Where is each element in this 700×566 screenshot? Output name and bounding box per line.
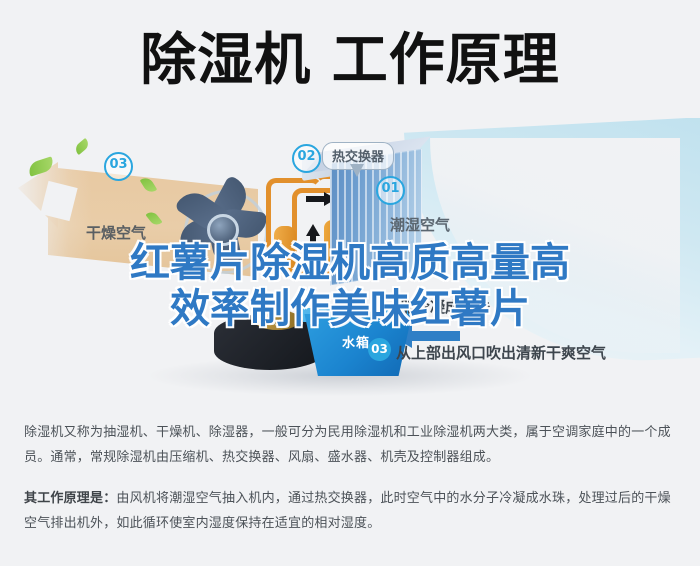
fan-hub (207, 214, 239, 246)
compressor-cylinder (274, 226, 296, 270)
paragraph-definition: 除湿机又称为抽湿机、干燥机、除湿器，一般可分为民用除湿机和工业除湿机两大类，属于… (0, 406, 700, 470)
paragraph-principle: 其工作原理是：由风机将潮湿空气抽入机内，通过热交换器，此时空气中的水分子冷凝成水… (0, 470, 700, 536)
step-badge-03-dry-air: 03 (104, 152, 133, 181)
leaf-icon (73, 138, 91, 155)
step-badge-02-heat-exchanger: 02 (292, 144, 321, 173)
flow-arrow-up-stem (310, 234, 316, 252)
dry-air-fade (14, 158, 92, 278)
humid-air-flow-inner (430, 138, 680, 353)
humid-air-arrow-tail (408, 331, 460, 341)
dehumidifier-diagram: 水箱 03 干燥空气 02 热交换器 01 潮湿空气 器冷凝成水珠 03 从上部… (0, 118, 700, 406)
label-dry-air: 干燥空气 (86, 222, 146, 243)
step-badge-01-humid-air: 01 (376, 176, 405, 205)
machine-base-ring (254, 310, 300, 330)
label-humid-air: 潮湿空气 (390, 214, 450, 235)
step-text-02: 器冷凝成水珠 (400, 296, 490, 317)
page-title: 除湿机 工作原理 (0, 30, 700, 92)
paragraph-principle-lead: 其工作原理是： (24, 491, 116, 506)
paragraph-principle-text: 由风机将潮湿空气抽入机内，通过热交换器，此时空气中的水分子冷凝成水珠，处理过后的… (24, 491, 671, 531)
step-text-03: 从上部出风口吹出清新干爽空气 (396, 342, 606, 363)
diagram-canvas: 水箱 03 干燥空气 02 热交换器 01 潮湿空气 器冷凝成水珠 03 从上部… (0, 118, 700, 406)
body-copy: 除湿机又称为抽湿机、干燥机、除湿器，一般可分为民用除湿机和工业除湿机两大类，属于… (0, 406, 700, 566)
title-band: 除湿机 工作原理 (0, 0, 700, 118)
infographic-page: 除湿机 工作原理 (0, 0, 700, 566)
flow-arrow-right-stem (306, 196, 326, 202)
flow-arrow-up-icon (306, 224, 320, 236)
step-badge-03-outlet: 03 (368, 338, 391, 361)
bubble-tail-icon (350, 164, 364, 177)
